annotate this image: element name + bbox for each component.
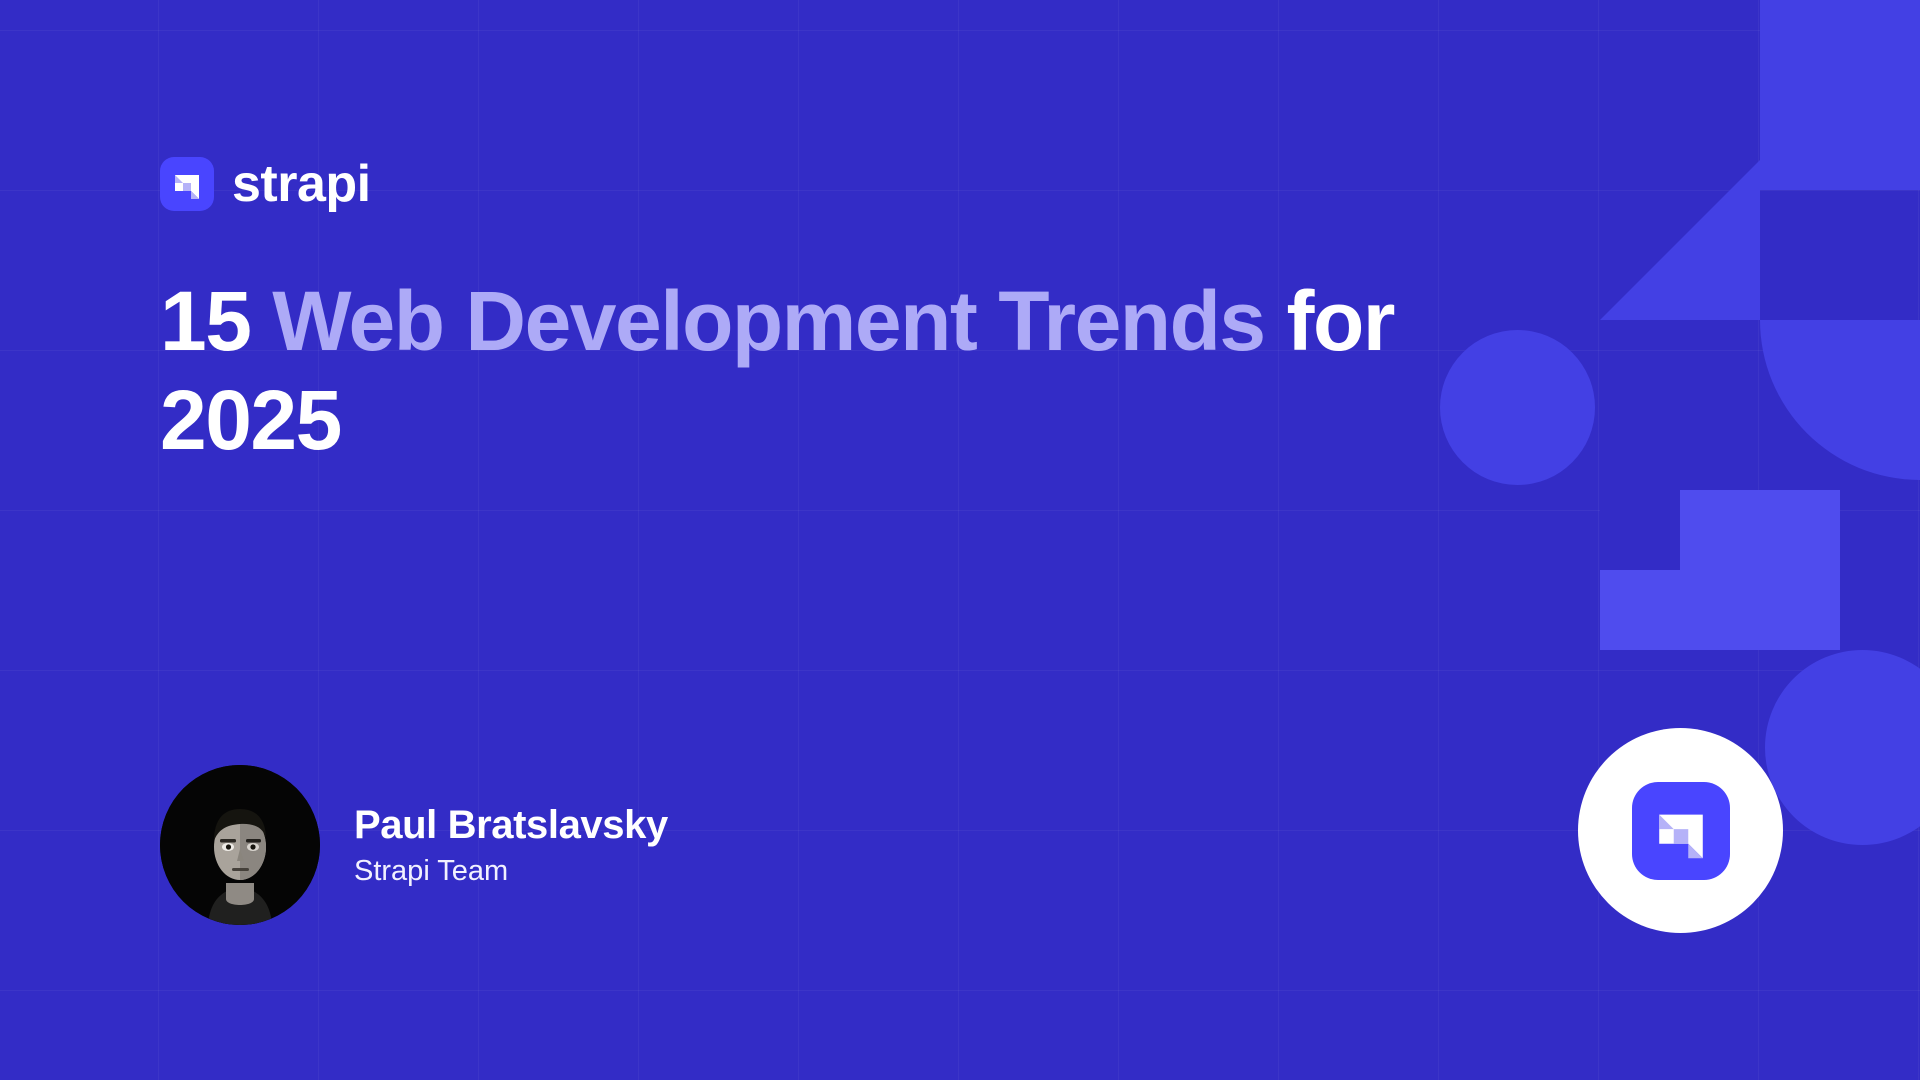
author-portrait-icon — [160, 765, 320, 925]
strapi-logo-icon — [160, 157, 214, 211]
author-name: Paul Bratslavsky — [354, 804, 668, 846]
decor-step-bar — [1600, 570, 1840, 650]
strapi-badge[interactable] — [1578, 728, 1783, 933]
author-meta: Paul Bratslavsky Strapi Team — [354, 804, 668, 886]
decor-square-top-right-lower — [1760, 160, 1920, 190]
page-title: 15 Web Development Trends for 2025 — [160, 272, 1580, 470]
author-role: Strapi Team — [354, 856, 668, 886]
avatar — [160, 765, 320, 925]
decor-step-notch — [1600, 490, 1680, 570]
headline-number: 15 — [160, 274, 250, 368]
strapi-logo-glyph — [1632, 782, 1730, 880]
decor-square-top-right — [1760, 0, 1920, 160]
brand-logo[interactable]: strapi — [160, 157, 371, 211]
headline-accent: Web Development Trends — [272, 274, 1264, 368]
social-card: strapi 15 Web Development Trends for 202… — [0, 0, 1920, 1080]
strapi-logo-glyph — [160, 157, 214, 211]
strapi-logo-icon — [1632, 782, 1730, 880]
brand-name: strapi — [232, 158, 371, 210]
author-block: Paul Bratslavsky Strapi Team — [160, 765, 668, 925]
